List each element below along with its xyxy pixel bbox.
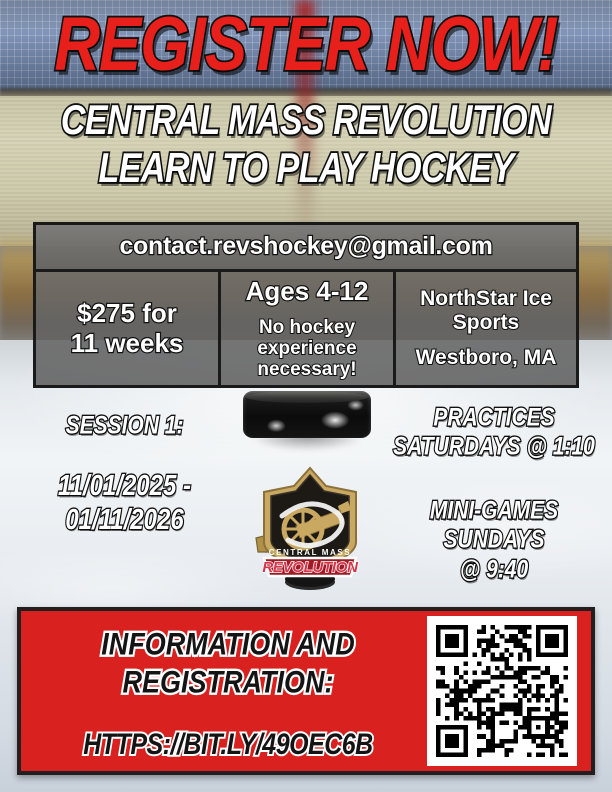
session-date-start: 11/01/2025 - [12,470,237,504]
mini-games-schedule: MINI-GAMES SUNDAYS @ 9:40 [384,497,604,585]
logo-bottom-text: REVOLUTION [262,559,359,576]
qr-code[interactable] [427,616,577,766]
ages-heading: Ages 4-12 [246,276,369,307]
session-label: SESSION 1: [12,412,237,441]
registration-heading-line-2: REGISTRATION: [29,663,427,701]
registration-banner-text: INFORMATION AND REGISTRATION: HTTPS://BI… [21,625,427,757]
registration-banner: INFORMATION AND REGISTRATION: HTTPS://BI… [17,607,595,775]
page-title-register-now: REGISTER NOW! [0,8,612,84]
session-dates: 11/01/2025 - 01/11/2026 [12,470,237,538]
program-name: LEARN TO PLAY HOCKEY [0,148,612,189]
venue-name-line-1: NorthStar Ice [420,287,552,311]
games-heading: MINI-GAMES [384,497,604,526]
price-line-2: 11 weeks [71,328,184,359]
practices-heading: PRACTICES [384,404,604,433]
price-line-1: $275 for [77,298,177,329]
venue-city: Westboro, MA [416,346,557,370]
games-time: @ 9:40 [384,555,604,584]
practices-time: SATURDAYS @ 1:10 [384,433,604,462]
puck-top-face [246,391,368,403]
venue-name-line-2: Sports [453,311,520,335]
hockey-puck-icon [243,391,371,447]
session-block: SESSION 1: 11/01/2025 - 01/11/2026 [12,412,237,527]
organization-name: CENTRAL MASS REVOLUTION [0,100,612,141]
email-row: contact.revshockey@gmail.com [36,225,576,272]
registration-heading-line-1: INFORMATION AND [29,625,427,663]
team-logo: CENTRAL MASS REVOLUTION [252,466,368,592]
ages-note-line-3: necessary! [257,360,356,381]
info-panel: contact.revshockey@gmail.com $275 for 11… [33,222,579,388]
session-date-end: 01/11/2026 [12,504,237,538]
ages-note-line-2: experience [257,339,356,360]
ages-note-line-1: No hockey [259,318,355,339]
contact-email[interactable]: contact.revshockey@gmail.com [119,232,492,261]
schedule-block: PRACTICES SATURDAYS @ 1:10 MINI-GAMES SU… [384,404,604,570]
logo-top-text: CENTRAL MASS [269,548,352,557]
ages-column: Ages 4-12 No hockey experience necessary… [221,272,396,385]
registration-heading: INFORMATION AND REGISTRATION: [29,625,427,701]
venue-column: NorthStar Ice Sports Westboro, MA [396,272,576,385]
games-day: SUNDAYS [384,526,604,555]
registration-url[interactable]: HTTPS://BIT.LY/49OEC6B [29,728,427,762]
practices-schedule: PRACTICES SATURDAYS @ 1:10 [384,404,604,462]
price-column: $275 for 11 weeks [36,272,221,385]
info-columns: $275 for 11 weeks Ages 4-12 No hockey ex… [36,272,576,385]
hockey-registration-flyer: REGISTER NOW! CENTRAL MASS REVOLUTION LE… [0,0,612,792]
